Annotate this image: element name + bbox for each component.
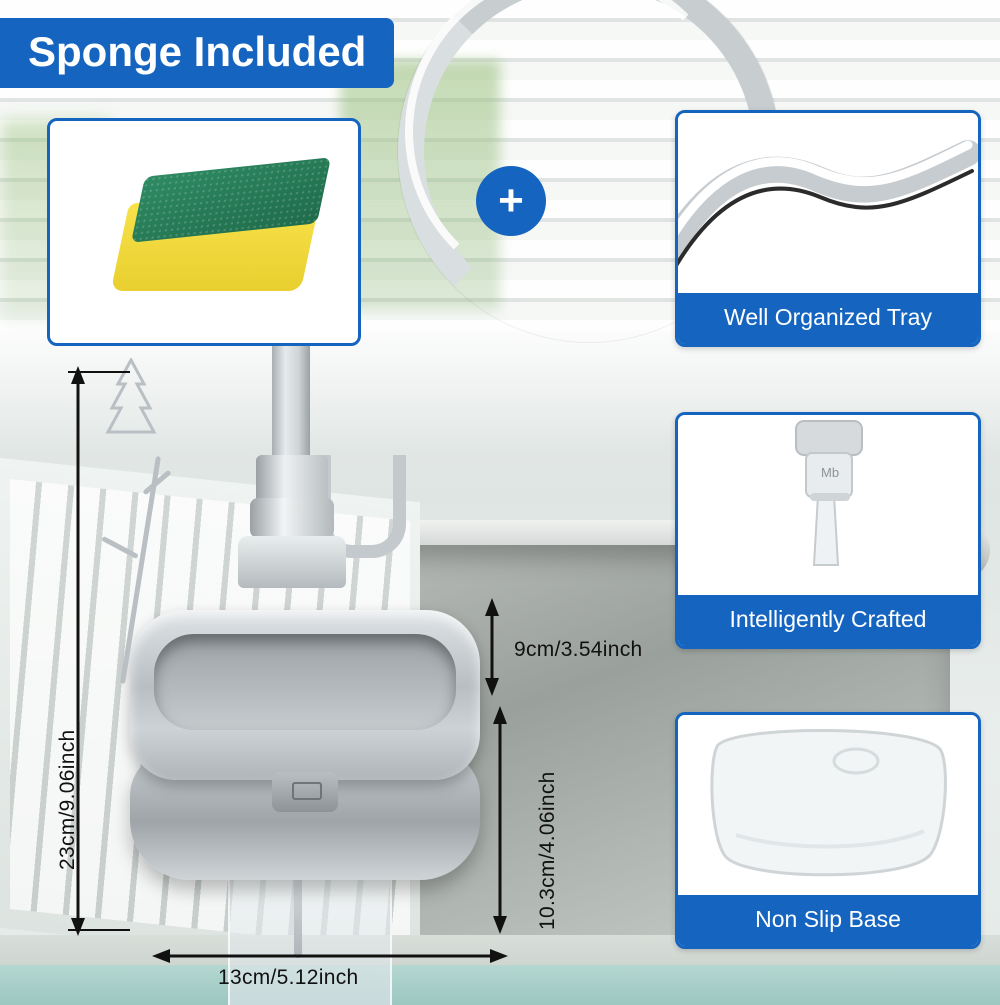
sponge-included-banner: Sponge Included	[0, 18, 394, 88]
feature-card-tray-caption: Well Organized Tray	[678, 293, 978, 344]
feature-card-base-caption: Non Slip Base	[678, 895, 978, 946]
dimension-depth-label: 9cm/3.54inch	[514, 638, 643, 662]
feature-card-tray-image	[678, 113, 978, 293]
feature-card-crafted-caption: Intelligently Crafted	[678, 595, 978, 646]
feature-card-crafted[interactable]: Mb Intelligently Crafted	[675, 412, 981, 649]
soap-dispenser-product	[120, 600, 500, 960]
tray-curve-icon	[678, 135, 978, 285]
dimension-width-label: 13cm/5.12inch	[218, 966, 358, 990]
svg-text:Mb: Mb	[821, 465, 839, 480]
feature-card-tray[interactable]: Well Organized Tray	[675, 110, 981, 347]
feature-card-base-image	[678, 715, 978, 895]
feature-card-crafted-image: Mb	[678, 415, 978, 595]
dimension-body-height-label: 10.3cm/4.06inch	[536, 771, 560, 930]
ornament-tree-icon	[98, 358, 164, 444]
dispenser-tray-basin	[154, 634, 456, 730]
faucet-base	[238, 536, 346, 588]
feature-card-base[interactable]: Non Slip Base	[675, 712, 981, 949]
counter-front-trim	[0, 965, 1000, 1005]
dimension-height-label: 23cm/9.06inch	[56, 730, 80, 870]
non-slip-base-icon	[678, 715, 978, 895]
faucet-collar-lower	[250, 498, 334, 538]
sponge-illustration	[112, 161, 312, 291]
dispenser-intake-tube	[294, 868, 302, 958]
product-infographic: 23cm/9.06inch 9cm/3.54inch 10.3cm/4.06in…	[0, 0, 1000, 1005]
press-pad-arrow-icon	[292, 782, 322, 800]
plus-badge-icon: +	[476, 166, 546, 236]
sponge-preview-box	[47, 118, 361, 346]
pump-nozzle-icon: Mb	[678, 415, 978, 595]
